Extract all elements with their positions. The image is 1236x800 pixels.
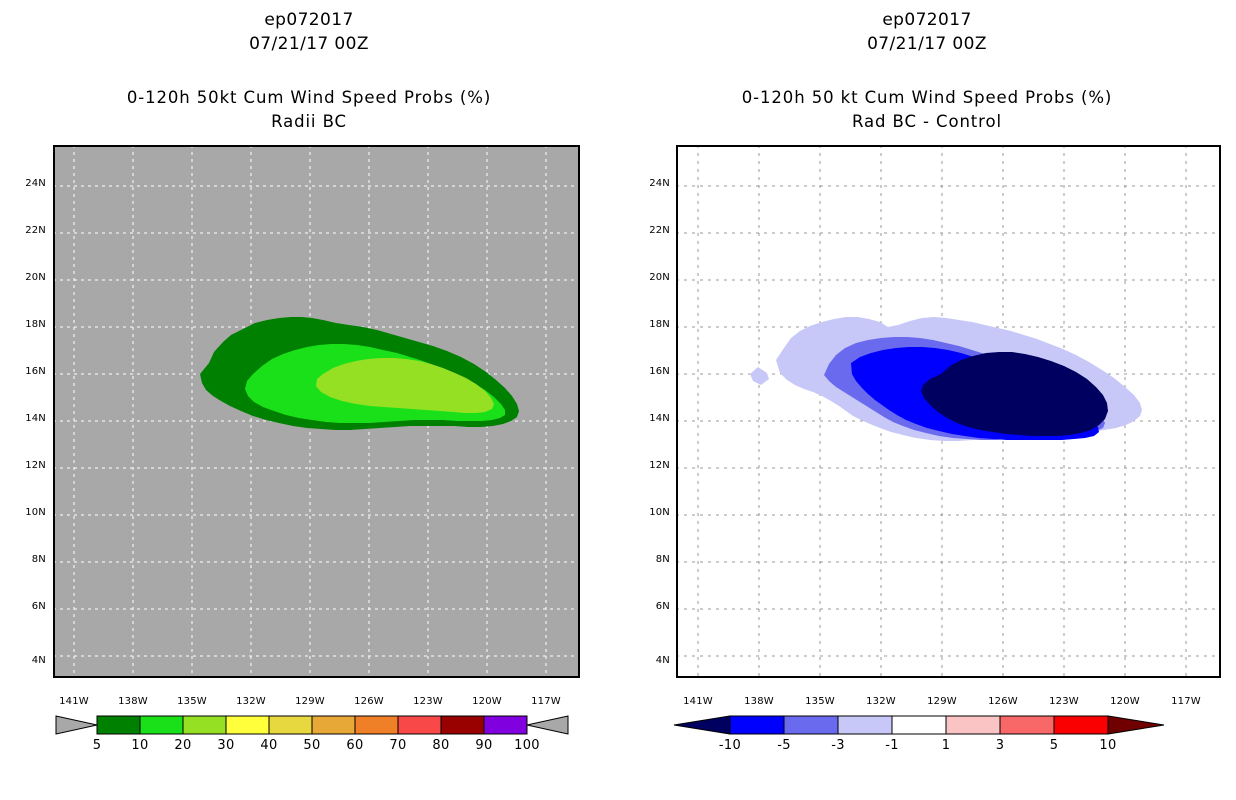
ytick-label-right-8N: 8N: [632, 554, 670, 565]
colorbar-over-arrow-left: [527, 716, 568, 734]
colorbar-left: 5 10 20 30 40 50 60 70 80 90 100: [40, 712, 590, 738]
plot-area-left: [53, 145, 580, 678]
xtick-label-126W: 126W: [349, 696, 389, 707]
colorbar-tick-pos3: 3: [980, 738, 1020, 753]
colorbar-right: -10 -5 -3 -1 1 3 5 10: [654, 712, 1214, 738]
chart-page: ep072017 07/21/17 00Z 0-120h 50kt Cum Wi…: [0, 0, 1236, 800]
xtick-label-right-138W: 138W: [739, 696, 779, 707]
colorbar-tick-40: 40: [249, 738, 289, 753]
ytick-label-right-6N: 6N: [632, 601, 670, 612]
panel-right-title: 0-120h 50 kt Cum Wind Speed Probs (%): [618, 88, 1236, 107]
xtick-label-right-117W: 117W: [1166, 696, 1206, 707]
xtick-label-132W: 132W: [231, 696, 271, 707]
xtick-label-right-123W: 123W: [1044, 696, 1084, 707]
colorbar-tick-90: 90: [464, 738, 504, 753]
map-plot-right: [676, 145, 1221, 678]
xtick-label-right-126W: 126W: [983, 696, 1023, 707]
colorbar-tick-5: 5: [77, 738, 117, 753]
colorbar-left-swatches: [40, 712, 590, 738]
colorbar-tick-70: 70: [378, 738, 418, 753]
ytick-label-10N: 10N: [8, 507, 46, 518]
colorbar-tick-30: 30: [206, 738, 246, 753]
panel-right-id: ep072017: [618, 10, 1236, 30]
colorbar-tick-neg1: -1: [872, 738, 912, 753]
ytick-label-6N: 6N: [8, 601, 46, 612]
xtick-label-right-141W: 141W: [678, 696, 718, 707]
panel-left-subtitle: Radii BC: [0, 112, 618, 131]
ytick-label-right-24N: 24N: [632, 178, 670, 189]
panel-right-date: 07/21/17 00Z: [618, 34, 1236, 54]
colorbar-tick-pos5: 5: [1034, 738, 1074, 753]
panel-radii-bc: ep072017 07/21/17 00Z 0-120h 50kt Cum Wi…: [0, 0, 618, 800]
panel-right-subtitle: Rad BC - Control: [618, 112, 1236, 131]
ytick-label-22N: 22N: [8, 225, 46, 236]
xtick-label-right-132W: 132W: [861, 696, 901, 707]
colorbar-over-arrow-right: [1108, 716, 1164, 734]
colorbar-tick-80: 80: [421, 738, 461, 753]
xtick-label-135W: 135W: [172, 696, 212, 707]
ytick-label-4N: 4N: [8, 655, 46, 666]
xtick-label-117W: 117W: [526, 696, 566, 707]
ytick-label-right-14N: 14N: [632, 413, 670, 424]
panel-left-date: 07/21/17 00Z: [0, 34, 618, 54]
colorbar-tick-neg10: -10: [710, 738, 750, 753]
ytick-label-right-22N: 22N: [632, 225, 670, 236]
ytick-label-right-4N: 4N: [632, 655, 670, 666]
ytick-label-18N: 18N: [8, 319, 46, 330]
xtick-label-120W: 120W: [467, 696, 507, 707]
colorbar-tick-50: 50: [292, 738, 332, 753]
panel-rad-bc-control: ep072017 07/21/17 00Z 0-120h 50 kt Cum W…: [618, 0, 1236, 800]
ytick-label-8N: 8N: [8, 554, 46, 565]
colorbar-tick-60: 60: [335, 738, 375, 753]
colorbar-tick-pos1: 1: [926, 738, 966, 753]
xtick-label-right-135W: 135W: [800, 696, 840, 707]
colorbar-under-arrow-right: [674, 716, 730, 734]
ytick-label-right-18N: 18N: [632, 319, 670, 330]
colorbar-tick-pos10: 10: [1088, 738, 1128, 753]
xtick-label-right-120W: 120W: [1105, 696, 1145, 707]
ytick-label-12N: 12N: [8, 460, 46, 471]
ytick-label-right-12N: 12N: [632, 460, 670, 471]
xtick-label-141W: 141W: [54, 696, 94, 707]
xtick-label-123W: 123W: [408, 696, 448, 707]
colorbar-tick-neg5: -5: [764, 738, 804, 753]
ytick-label-16N: 16N: [8, 366, 46, 377]
panel-left-id: ep072017: [0, 10, 618, 30]
colorbar-tick-10: 10: [120, 738, 160, 753]
panel-left-title: 0-120h 50kt Cum Wind Speed Probs (%): [0, 88, 618, 107]
ytick-label-right-20N: 20N: [632, 272, 670, 283]
ytick-label-right-10N: 10N: [632, 507, 670, 518]
ytick-label-14N: 14N: [8, 413, 46, 424]
plot-area-right: [676, 145, 1221, 678]
colorbar-tick-neg3: -3: [818, 738, 858, 753]
colorbar-under-arrow-left: [56, 716, 97, 734]
colorbar-tick-20: 20: [163, 738, 203, 753]
colorbar-tick-100: 100: [507, 738, 547, 753]
xtick-label-right-129W: 129W: [922, 696, 962, 707]
xtick-label-138W: 138W: [113, 696, 153, 707]
ytick-label-20N: 20N: [8, 272, 46, 283]
colorbar-right-swatches: [654, 712, 1214, 738]
ytick-label-24N: 24N: [8, 178, 46, 189]
map-plot-left: [53, 145, 580, 678]
xtick-label-129W: 129W: [290, 696, 330, 707]
ytick-label-right-16N: 16N: [632, 366, 670, 377]
